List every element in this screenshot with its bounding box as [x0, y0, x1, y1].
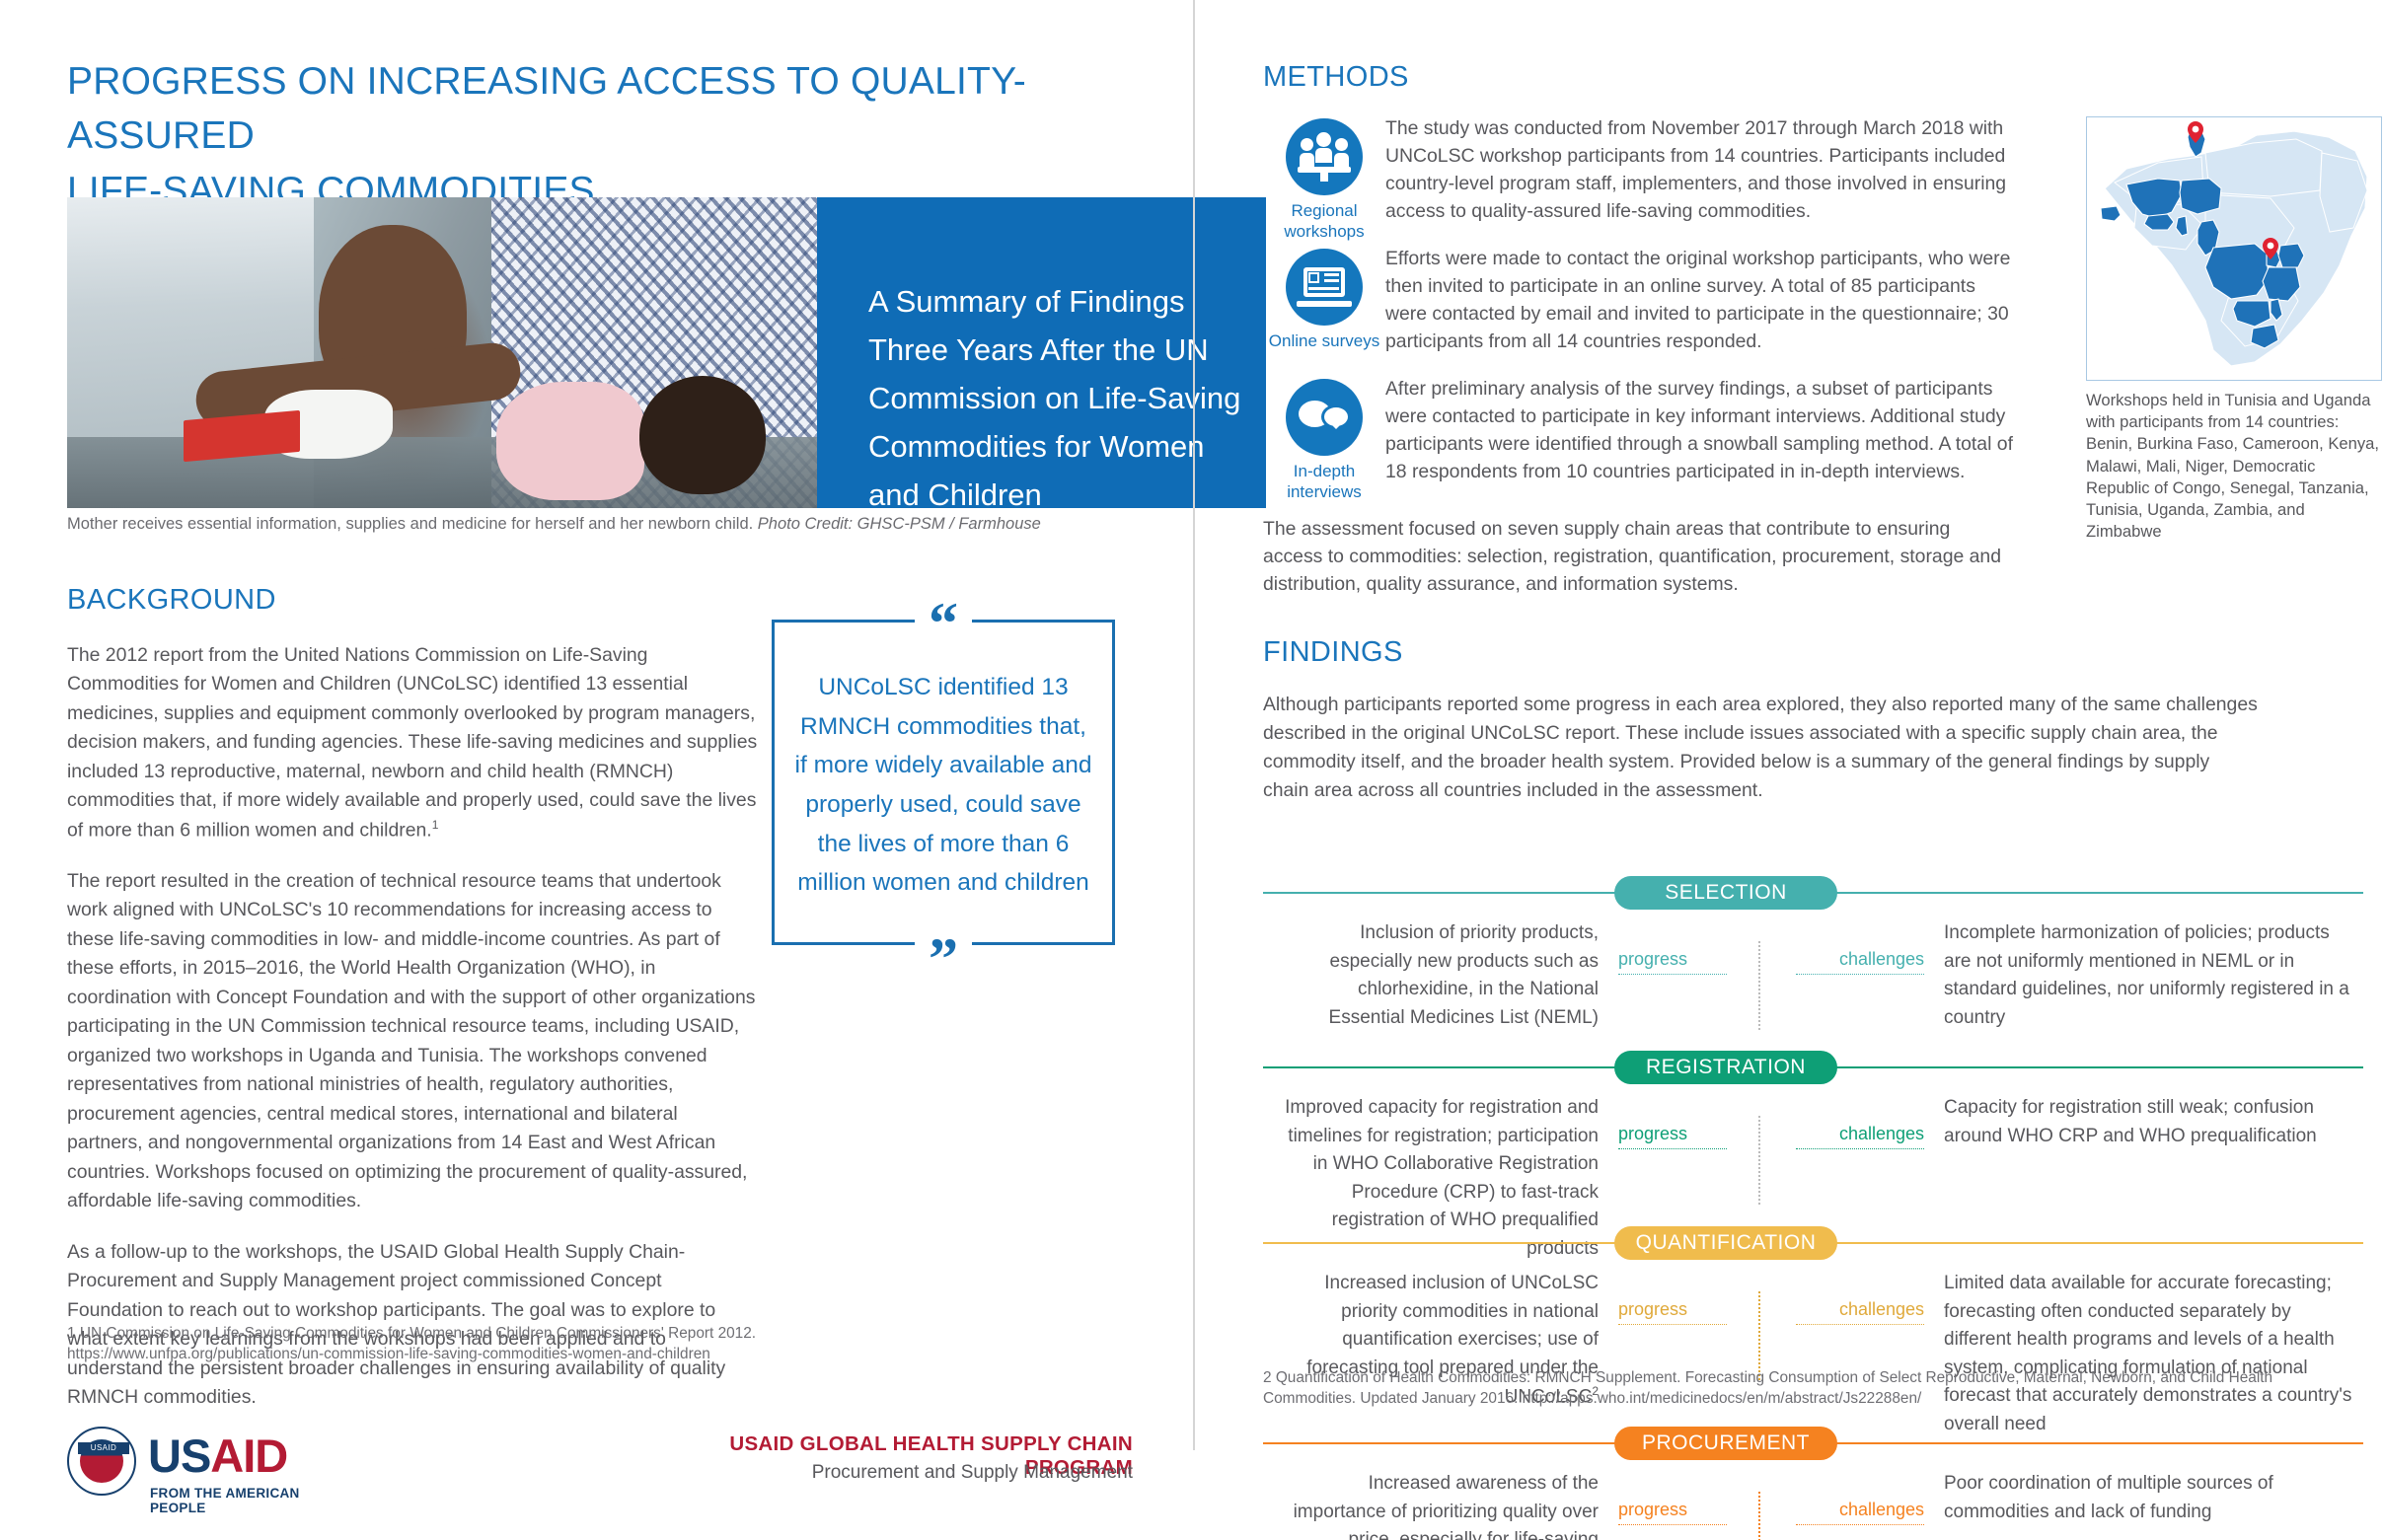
- band-challenges-label-quantification: challenges: [1796, 1299, 1924, 1325]
- africa-map-caption: Workshops held in Tunisia and Uganda wit…: [2086, 390, 2382, 544]
- band-challenges-text-procurement: Poor coordination of multiple sources of…: [1944, 1470, 2358, 1526]
- online-surveys-icon: [1286, 249, 1363, 326]
- left-column: PROGRESS ON INCREASING ACCESS TO QUALITY…: [0, 0, 1196, 1540]
- band-title-registration: REGISTRATION: [1614, 1051, 1837, 1084]
- usaid-logo: USAID USAID FROM THE AMERICAN PEOPLE: [67, 1425, 332, 1502]
- band-progress-text-procurement: Increased awareness of the importance of…: [1283, 1470, 1599, 1540]
- page-title-line-1: PROGRESS ON INCREASING ACCESS TO QUALITY…: [67, 54, 1143, 164]
- regional-workshops-icon: [1286, 118, 1363, 195]
- band-challenges-text-quantification: Limited data available for accurate fore…: [1944, 1270, 2358, 1438]
- background-heading: BACKGROUND: [67, 584, 276, 617]
- band-progress-label-procurement: progress: [1618, 1500, 1727, 1525]
- quote-open-icon: “: [915, 594, 972, 653]
- assessment-text: The assessment focused on seven supply c…: [1263, 515, 2013, 598]
- band-progress-label-quantification: progress: [1618, 1299, 1727, 1325]
- africa-map: Workshops held in Tunisia and Uganda wit…: [2086, 116, 2382, 544]
- method-text-2: Efforts were made to contact the origina…: [1385, 245, 2017, 356]
- summary-callout-text: A Summary of Findings Three Years After …: [868, 278, 1243, 520]
- hero-band: A Summary of Findings Three Years After …: [67, 197, 1199, 508]
- band-title-selection: SELECTION: [1614, 876, 1837, 910]
- usaid-wordmark-aid: AID: [210, 1430, 287, 1482]
- photo-caption-main: Mother receives essential information, s…: [67, 515, 753, 533]
- band-progress-label-registration: progress: [1618, 1124, 1727, 1149]
- methods-heading: METHODS: [1263, 61, 1409, 94]
- band-challenges-text-selection: Incomplete harmonization of policies; pr…: [1944, 919, 2358, 1032]
- usaid-tagline: FROM THE AMERICAN PEOPLE: [150, 1486, 332, 1515]
- method-icon-wrap-3: In-depth interviews: [1263, 379, 1385, 502]
- background-body: The 2012 report from the United Nations …: [67, 641, 758, 1434]
- usaid-wordmark: USAID: [148, 1432, 287, 1479]
- pull-quote-text: UNCoLSC identified 13 RMNCH commodities …: [794, 668, 1092, 903]
- band-challenges-text-registration: Capacity for registration still weak; co…: [1944, 1094, 2358, 1150]
- summary-callout-box: A Summary of Findings Three Years After …: [817, 197, 1266, 508]
- africa-map-frame: [2086, 116, 2382, 381]
- band-divider-procurement: [1758, 1492, 1760, 1540]
- page-footer: USAID USAID FROM THE AMERICAN PEOPLE USA…: [0, 1405, 1196, 1540]
- band-challenges-label-registration: challenges: [1796, 1124, 1924, 1149]
- background-footnote: 1 UN Commission on Life-Saving Commoditi…: [67, 1323, 758, 1365]
- band-progress-label-selection: progress: [1618, 949, 1727, 975]
- method-text-3: After preliminary analysis of the survey…: [1385, 375, 2017, 486]
- page-title: PROGRESS ON INCREASING ACCESS TO QUALITY…: [67, 54, 1143, 218]
- photo-caption: Mother receives essential information, s…: [67, 514, 1054, 535]
- quote-close-icon: ”: [915, 929, 972, 989]
- findings-intro: Although participants reported some prog…: [1263, 691, 2260, 805]
- poster-page: PROGRESS ON INCREASING ACCESS TO QUALITY…: [0, 0, 2383, 1540]
- method-label-3: In-depth interviews: [1263, 462, 1385, 502]
- usaid-seal-band: USAID: [78, 1442, 129, 1454]
- band-divider-registration: [1758, 1116, 1760, 1205]
- band-title-quantification: QUANTIFICATION: [1614, 1226, 1837, 1260]
- method-icon-wrap-1: Regional workshops: [1263, 118, 1385, 242]
- band-challenges-label-procurement: challenges: [1796, 1500, 1924, 1525]
- findings-heading: FINDINGS: [1263, 636, 1403, 669]
- usaid-wordmark-us: US: [148, 1430, 210, 1482]
- method-text-1: The study was conducted from November 20…: [1385, 114, 2017, 226]
- photo-baby-head: [639, 376, 766, 494]
- in-depth-interviews-icon: [1286, 379, 1363, 456]
- column-divider: [1193, 0, 1195, 1450]
- photo-caption-credit: Photo Credit: GHSC-PSM / Farmhouse: [758, 515, 1041, 533]
- method-label-1: Regional workshops: [1263, 201, 1385, 242]
- band-divider-selection: [1758, 941, 1760, 1030]
- band-progress-text-registration: Improved capacity for registration and t…: [1283, 1094, 1599, 1263]
- hero-photo: [67, 197, 817, 508]
- africa-map-svg: [2087, 117, 2382, 381]
- band-progress-text-selection: Inclusion of priority products, especial…: [1283, 919, 1599, 1032]
- pull-quote: UNCoLSC identified 13 RMNCH commodities …: [772, 620, 1115, 945]
- photo-baby-blanket: [496, 382, 644, 500]
- pull-quote-box: UNCoLSC identified 13 RMNCH commodities …: [772, 620, 1115, 945]
- band-challenges-label-selection: challenges: [1796, 949, 1924, 975]
- program-subtitle: Procurement and Supply Management: [632, 1462, 1133, 1484]
- background-paragraph-1-text: The 2012 report from the United Nations …: [67, 644, 757, 841]
- background-footnote-marker: 1: [432, 818, 439, 832]
- method-icon-wrap-2: Online surveys: [1263, 249, 1385, 352]
- usaid-seal-icon: USAID: [67, 1427, 136, 1496]
- findings-footnote: 2 Quantification of Health Commodities: …: [1263, 1367, 2363, 1410]
- band-title-procurement: PROCUREMENT: [1614, 1427, 1837, 1460]
- method-label-2: Online surveys: [1263, 331, 1385, 352]
- background-paragraph-2: The report resulted in the creation of t…: [67, 867, 758, 1216]
- background-paragraph-1: The 2012 report from the United Nations …: [67, 641, 758, 845]
- right-column: METHODS Regional workshops The study was…: [1263, 0, 2383, 1540]
